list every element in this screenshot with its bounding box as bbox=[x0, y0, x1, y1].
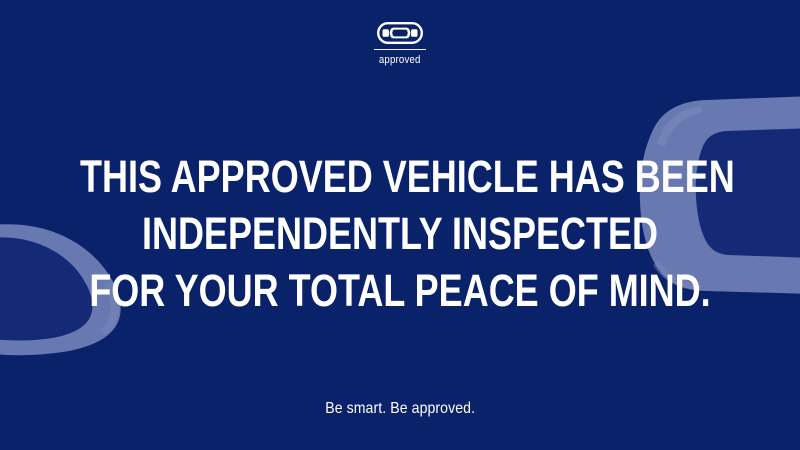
headline: THIS APPROVED VEHICLE HAS BEEN INDEPENDE… bbox=[0, 148, 800, 319]
logo-divider-rule bbox=[374, 49, 426, 50]
headline-line-2: INDEPENDENTLY INSPECTED bbox=[80, 205, 720, 262]
headline-line-3: FOR YOUR TOTAL PEACE OF MIND. bbox=[80, 262, 720, 319]
headline-line-1: THIS APPROVED VEHICLE HAS BEEN bbox=[80, 148, 720, 205]
tagline-text: Be smart. Be approved. bbox=[325, 400, 475, 418]
approved-car-icon bbox=[377, 22, 423, 44]
logo-wordmark: approved bbox=[379, 54, 421, 66]
approved-vehicle-banner: approved THIS APPROVED VEHICLE HAS BEEN … bbox=[0, 0, 800, 450]
tagline: Be smart. Be approved. bbox=[0, 400, 800, 418]
brand-logo: approved bbox=[0, 22, 800, 66]
